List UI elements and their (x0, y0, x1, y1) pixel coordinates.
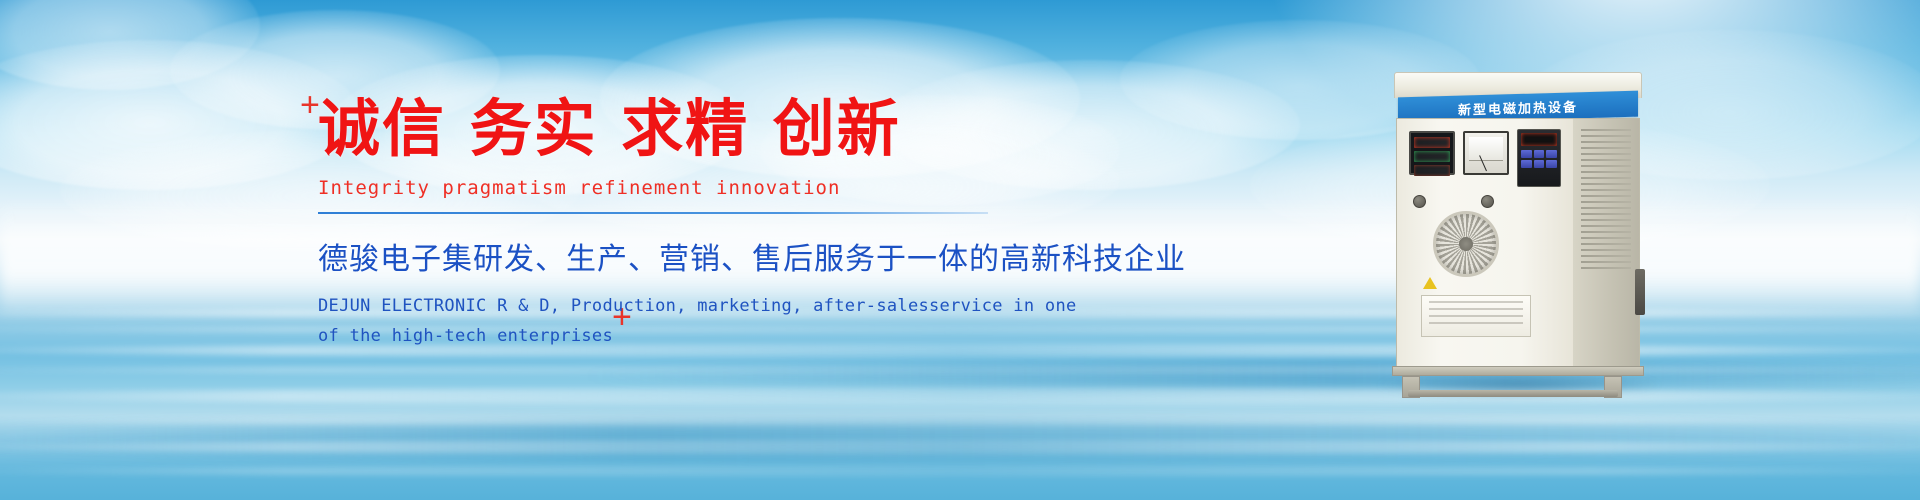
vent-slot (1581, 171, 1631, 173)
warning-triangle-icon (1423, 277, 1437, 289)
vent-slot (1581, 261, 1631, 263)
vent-slot (1581, 183, 1631, 185)
water-streak (0, 416, 1920, 425)
control-panel (1405, 127, 1565, 189)
water-shade (576, 360, 1920, 390)
vent-slot (1581, 177, 1631, 179)
cloud-shape (0, 0, 260, 90)
nameplate-line (1429, 308, 1523, 310)
analog-meter-icon (1463, 131, 1509, 175)
keypad-key (1534, 160, 1545, 168)
machine-label-text: 新型电磁加热设备 (1458, 96, 1578, 118)
plus-decoration-icon: + (300, 88, 320, 122)
vent-slot (1581, 189, 1631, 191)
ventilation-grille (1581, 129, 1631, 279)
keypad-key (1546, 150, 1557, 158)
subheadline-english-line-1: DEJUN ELECTRONIC R & D, Production, mark… (318, 292, 1018, 322)
vent-slot (1581, 165, 1631, 167)
water-streak (0, 466, 1920, 476)
divider-rule (318, 212, 988, 214)
keypad-key (1546, 160, 1557, 168)
control-keypad-icon (1517, 129, 1561, 187)
vent-slot (1581, 147, 1631, 149)
machine-handle (1635, 269, 1645, 315)
banner-copy: 诚信 务实 求精 创新 Integrity pragmatism refinem… (318, 96, 1018, 352)
vent-slot (1581, 207, 1631, 209)
promo-banner: + + 诚信 务实 求精 创新 Integrity pragmatism ref… (0, 0, 1920, 500)
vent-slot (1581, 135, 1631, 137)
nameplate-line (1429, 315, 1523, 317)
product-machine: 新型电磁加热设备 (1388, 72, 1648, 402)
vent-slot (1581, 249, 1631, 251)
cooling-fan-icon (1433, 211, 1499, 277)
water-streak (0, 440, 1920, 454)
subheadline-chinese: 德骏电子集研发、生产、营销、售后服务于一体的高新科技企业 (318, 234, 1018, 278)
machine-side-panel (1573, 119, 1639, 367)
digital-readout-icon (1409, 131, 1455, 175)
keypad-buttons (1521, 150, 1557, 168)
readout-segment (1414, 165, 1450, 176)
nameplate-line (1429, 322, 1523, 324)
vent-slot (1581, 237, 1631, 239)
vent-slot (1581, 129, 1631, 131)
keypad-key (1521, 150, 1532, 158)
vent-slot (1581, 195, 1631, 197)
rotary-knob-icon (1413, 195, 1426, 208)
keypad-display (1521, 133, 1557, 146)
vent-slot (1581, 153, 1631, 155)
vent-slot (1581, 201, 1631, 203)
subheadline-english-line-2: of the high-tech enterprises (318, 322, 1018, 352)
meter-dial (1469, 137, 1503, 161)
vent-slot (1581, 255, 1631, 257)
vent-slot (1581, 141, 1631, 143)
vent-slot (1581, 213, 1631, 215)
vent-slot (1581, 219, 1631, 221)
subheadline-english: DEJUN ELECTRONIC R & D, Production, mark… (318, 292, 1018, 352)
machine-cabinet (1396, 118, 1640, 368)
vent-slot (1581, 243, 1631, 245)
readout-segment (1414, 151, 1450, 162)
keypad-key (1534, 150, 1545, 158)
vent-slot (1581, 231, 1631, 233)
headline-tagline-english: Integrity pragmatism refinement innovati… (318, 177, 1018, 199)
vent-slot (1581, 267, 1631, 269)
vent-slot (1581, 159, 1631, 161)
machine-plinth (1392, 366, 1644, 376)
spec-nameplate (1421, 295, 1531, 337)
rotary-knob-icon (1481, 195, 1494, 208)
machine-front-face (1397, 119, 1575, 367)
keypad-key (1521, 160, 1532, 168)
nameplate-line (1429, 301, 1523, 303)
headline: 诚信 务实 求精 创新 (318, 96, 1018, 161)
readout-segment (1414, 137, 1450, 148)
vent-slot (1581, 225, 1631, 227)
machine-base-rail (1408, 390, 1618, 397)
